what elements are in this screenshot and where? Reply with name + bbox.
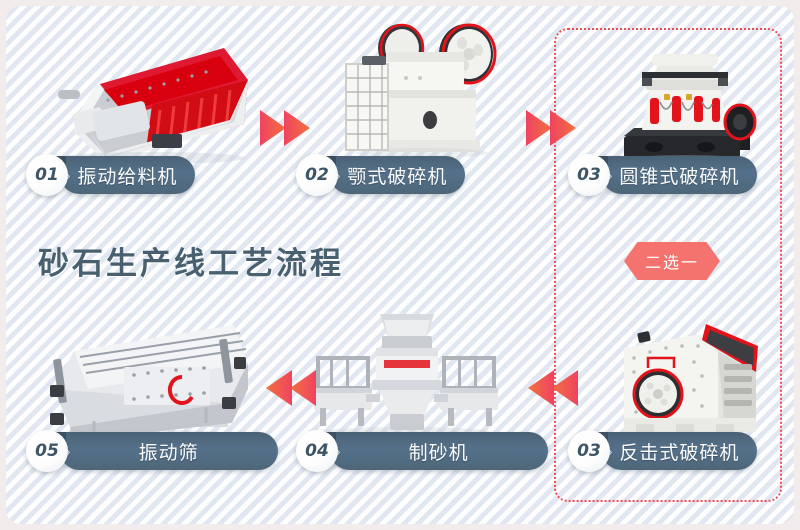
step-pill-03-cone[interactable]: › 圆锥式破碎机 [602, 156, 757, 194]
poster-frame: 砂石生产线工艺流程 二选一 01 › 振动给料机 02 › 颚式破碎机 03 ›… [6, 6, 794, 524]
step-label-05[interactable]: 05 › 振动筛 [26, 430, 278, 472]
step-title-03-cone: 圆锥式破碎机 [619, 162, 739, 189]
step-pill-01[interactable]: › 振动给料机 [60, 156, 195, 194]
arrow-03-to-04 [522, 362, 582, 414]
step-title-04: 制砂机 [409, 438, 469, 465]
step-label-03-impact[interactable]: 03 › 反击式破碎机 [568, 430, 757, 472]
machine-jaw-crusher [336, 20, 516, 165]
step-number-03-cone: 03 [568, 154, 610, 196]
step-label-04[interactable]: 04 › 制砂机 [296, 430, 548, 472]
machine-sand-making-machine [306, 308, 506, 438]
step-title-03-impact: 反击式破碎机 [619, 438, 739, 465]
step-title-01: 振动给料机 [77, 162, 177, 189]
step-title-02: 颚式破碎机 [347, 162, 447, 189]
arrow-02-to-03 [522, 102, 582, 154]
arrow-04-to-05 [260, 362, 320, 414]
step-pill-03-impact[interactable]: › 反击式破碎机 [602, 432, 757, 470]
step-label-03-cone[interactable]: 03 › 圆锥式破碎机 [568, 154, 757, 196]
machine-impact-crusher [606, 306, 776, 444]
step-pill-05[interactable]: › 振动筛 [60, 432, 278, 470]
machine-vibrating-screen [36, 311, 266, 441]
step-title-05: 振动筛 [139, 438, 199, 465]
poster-stage: 砂石生产线工艺流程 二选一 01 › 振动给料机 02 › 颚式破碎机 03 ›… [0, 0, 800, 530]
step-label-02[interactable]: 02 › 颚式破碎机 [296, 154, 465, 196]
step-pill-04[interactable]: › 制砂机 [330, 432, 548, 470]
step-label-01[interactable]: 01 › 振动给料机 [26, 154, 195, 196]
step-pill-02[interactable]: › 颚式破碎机 [330, 156, 465, 194]
step-number-01: 01 [26, 154, 68, 196]
choose-one-badge: 二选一 [624, 242, 720, 280]
machine-cone-crusher [602, 24, 772, 166]
step-number-02: 02 [296, 154, 338, 196]
machine-vibrating-feeder [34, 28, 264, 163]
arrow-01-to-02 [256, 102, 316, 154]
page-title: 砂石生产线工艺流程 [38, 238, 344, 283]
step-number-03-impact: 03 [568, 430, 610, 472]
step-number-04: 04 [296, 430, 338, 472]
step-number-05: 05 [26, 430, 68, 472]
